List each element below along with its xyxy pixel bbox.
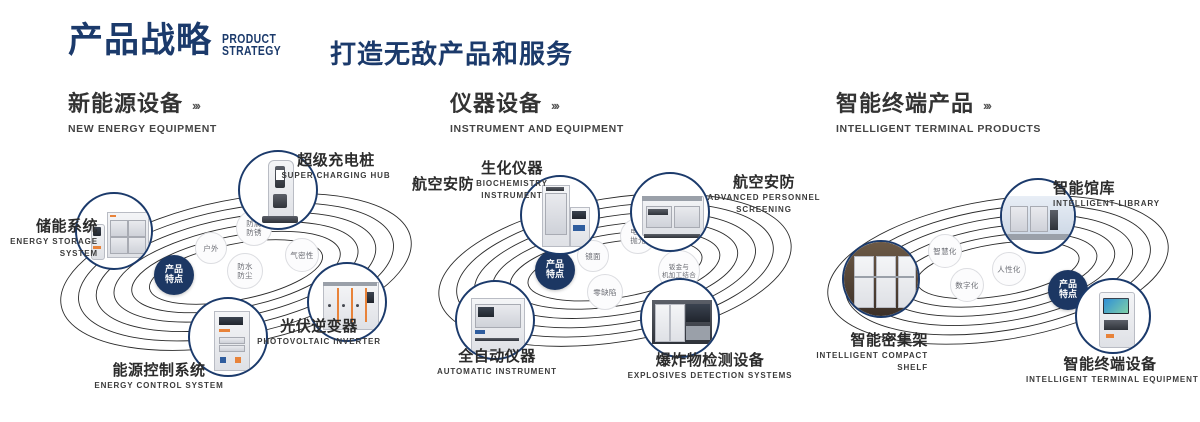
section-title-en: INSTRUMENT AND EQUIPMENT (450, 123, 624, 135)
screening-photo (632, 174, 708, 250)
bubble-label: 人性化 (997, 265, 1020, 274)
caption-en-line1: ADVANCED PERSONNEL (700, 193, 828, 203)
bubble-label: 智慧化 (933, 247, 956, 256)
caption-intelligent-library: 智能馆库 INTELLIGENT LIBRARY (1053, 180, 1199, 209)
caption-cn: 能源控制系统 (74, 362, 244, 379)
chevrons-right-icon: ››› (192, 98, 199, 113)
section-heading-intelligent-terminal: 智能终端产品 ››› INTELLIGENT TERMINAL PRODUCTS (836, 94, 1041, 135)
bubble-label: 气密性 (290, 251, 313, 260)
explosives-detection-photo (642, 280, 718, 356)
core-label-line2: 特点 (1059, 290, 1077, 300)
caption-en: INTELLIGENT LIBRARY (1053, 199, 1199, 209)
caption-cn: 储能系统 (6, 218, 98, 235)
page-subtitle: 打造无敌产品和服务 (330, 34, 573, 71)
section-heading-instrument: 仪器设备 ››› INSTRUMENT AND EQUIPMENT (450, 94, 624, 135)
feature-bubble-zero-defect: 零缺陷 (587, 274, 623, 310)
bubble-label-line1: 钣金与 (662, 263, 696, 271)
caption-en-line1: BIOCHEMISTRY (452, 179, 572, 189)
node-explosives-detection-systems[interactable] (640, 278, 720, 358)
caption-biochemistry-instrument: 生化仪器 BIOCHEMISTRY INSTRUMENT (452, 160, 572, 201)
caption-en: ENERGY CONTROL SYSTEM (74, 381, 244, 391)
feature-bubble-waterproof: 防水 防尘 (227, 253, 263, 289)
core-label-line1: 产品 (1059, 280, 1077, 290)
caption-intelligent-terminal-equipment: 智能终端设备 INTELLIGENT TERMINAL EQUIPMENT (1026, 356, 1194, 385)
compact-shelf-photo (844, 242, 918, 316)
feature-bubble-outdoor: 户外 (195, 232, 227, 264)
caption-cn: 超级充电桩 (276, 152, 396, 169)
caption-automatic-instrument: 全自动仪器 AUTOMATIC INSTRUMENT (432, 348, 562, 377)
page-title-en-line2: STRATEGY (222, 45, 281, 57)
core-label-line1: 产品 (546, 260, 564, 270)
caption-cn: 航空安防 (700, 174, 828, 191)
node-intelligent-compact-shelf[interactable] (842, 240, 920, 318)
section-title-cn: 仪器设备 (450, 94, 542, 116)
bubble-label-line2: 防锈 (246, 228, 262, 237)
page-header: 产品战略 PRODUCT STRATEGY (68, 24, 296, 59)
core-badge-product-features: 产品 特点 (535, 250, 575, 290)
caption-cn: 爆炸物检测设备 (620, 352, 800, 369)
section-heading-new-energy: 新能源设备 ››› NEW ENERGY EQUIPMENT (68, 94, 217, 135)
core-label-line2: 特点 (165, 275, 183, 285)
caption-intelligent-compact-shelf: 智能密集架 INTELLIGENT COMPACT SHELF (788, 332, 928, 373)
caption-cn: 智能密集架 (788, 332, 928, 349)
caption-en: SUPER CHARGING HUB (276, 171, 396, 181)
node-advanced-personnel-screening[interactable] (630, 172, 710, 252)
caption-en-line1: INTELLIGENT COMPACT (788, 351, 928, 361)
chevrons-right-icon: ››› (551, 98, 558, 113)
bubble-label: 户外 (203, 244, 219, 253)
product-strategy-infographic: 产品战略 PRODUCT STRATEGY 打造无敌产品和服务 新能源设备 ››… (0, 0, 1200, 422)
chevrons-right-icon: ››› (983, 98, 990, 113)
caption-explosives-detection-systems: 爆炸物检测设备 EXPLOSIVES DETECTION SYSTEMS (620, 352, 800, 381)
section-title-en: NEW ENERGY EQUIPMENT (68, 123, 217, 135)
caption-en-line2: INSTRUMENT (452, 191, 572, 201)
bubble-label-line2: 防尘 (237, 271, 253, 280)
caption-photovoltaic-inverter: 光伏逆变器 PHOTOVOLTAIC INVERTER (244, 318, 394, 347)
caption-cn: 智能馆库 (1053, 180, 1199, 197)
node-intelligent-terminal-equipment[interactable] (1075, 278, 1151, 354)
caption-en-line2: SHELF (788, 363, 928, 373)
caption-en: PHOTOVOLTAIC INVERTER (244, 337, 394, 347)
caption-energy-storage-system: 储能系统 ENERGY STORAGE SYSTEM (6, 218, 98, 259)
caption-en-line1: ENERGY STORAGE (6, 237, 98, 247)
bubble-label-line1: 防水 (237, 262, 253, 271)
caption-cn: 光伏逆变器 (244, 318, 394, 335)
caption-energy-control-system: 能源控制系统 ENERGY CONTROL SYSTEM (74, 362, 244, 391)
terminal-equipment-photo (1077, 280, 1149, 352)
caption-super-charging-hub: 超级充电桩 SUPER CHARGING HUB (276, 152, 396, 181)
page-title-en: PRODUCT STRATEGY (222, 33, 281, 57)
caption-en: INTELLIGENT TERMINAL EQUIPMENT (1026, 375, 1194, 385)
core-badge-product-features: 产品 特点 (154, 255, 194, 295)
caption-cn: 智能终端设备 (1026, 356, 1194, 373)
section-title-en: INTELLIGENT TERMINAL PRODUCTS (836, 123, 1041, 135)
page-title-cn: 产品战略 (68, 24, 212, 59)
section-title-cn: 智能终端产品 (836, 94, 974, 116)
feature-bubble-human-centric: 人性化 (992, 252, 1026, 286)
bubble-label: 数字化 (955, 281, 978, 290)
caption-cn: 全自动仪器 (432, 348, 562, 365)
caption-en: EXPLOSIVES DETECTION SYSTEMS (620, 371, 800, 381)
core-label-line2: 特点 (546, 270, 564, 280)
feature-bubble-smart: 智慧化 (928, 234, 962, 268)
feature-bubble-digital: 数字化 (950, 268, 984, 302)
caption-en: AUTOMATIC INSTRUMENT (432, 367, 562, 377)
caption-en-line2: SCREENING (700, 205, 828, 215)
bubble-label: 零缺陷 (593, 288, 616, 297)
section-title-cn: 新能源设备 (68, 94, 183, 116)
core-label-line1: 产品 (165, 265, 183, 275)
caption-en-line2: SYSTEM (6, 249, 98, 259)
caption-cn: 生化仪器 (452, 160, 572, 177)
caption-advanced-personnel-screening: 航空安防 ADVANCED PERSONNEL SCREENING (700, 174, 828, 215)
